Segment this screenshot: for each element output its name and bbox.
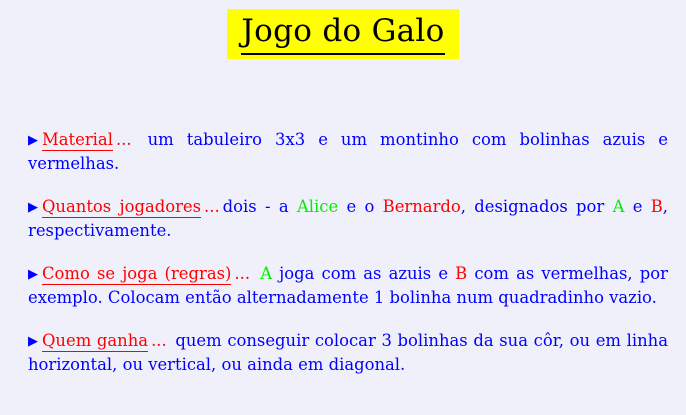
bullet-list: ▶Material... um tabuleiro 3x3 e um monti… [28, 128, 668, 376]
player-label-a: A [613, 197, 625, 216]
title-banner: Jogo do Galo [0, 0, 686, 59]
triangle-right-icon: ▶ [28, 330, 38, 353]
bullet-ellipsis: ... [116, 130, 132, 149]
title-highlight-box: Jogo do Galo [227, 9, 458, 59]
triangle-right-icon: ▶ [28, 263, 38, 286]
triangle-right-icon: ▶ [28, 196, 38, 219]
player-name-bernardo: Bernardo [383, 197, 461, 216]
bullet-ellipsis: ... [204, 197, 220, 216]
bullet-ellipsis: ... [151, 331, 167, 350]
bullet-heading: Como se joga (regras) [42, 264, 231, 285]
bullet-ellipsis: ... [234, 264, 250, 283]
bullet-heading: Material [42, 130, 113, 151]
player-label-b: B [455, 264, 467, 283]
bullet-heading: Quem ganha [42, 331, 148, 352]
list-item: ▶Quantos jogadores...dois - a Alice e o … [28, 195, 668, 242]
bullet-segment-text: e o [338, 197, 383, 216]
list-item: ▶Material... um tabuleiro 3x3 e um monti… [28, 128, 668, 175]
player-label-a: A [260, 264, 272, 283]
bullet-segment-text: dois - a [223, 197, 297, 216]
bullet-segment-text: e [624, 197, 650, 216]
bullet-segment-text: , designados por [461, 197, 613, 216]
bullet-heading: Quantos jogadores [42, 197, 201, 218]
list-item: ▶Como se joga (regras)... A joga com as … [28, 262, 668, 309]
bullet-segment-text: joga com as azuis e [272, 264, 455, 283]
triangle-right-icon: ▶ [28, 129, 38, 152]
player-label-b: B [651, 197, 663, 216]
page-title: Jogo do Galo [241, 16, 444, 55]
player-name-alice: Alice [297, 197, 338, 216]
list-item: ▶Quem ganha... quem conseguir colocar 3 … [28, 329, 668, 376]
